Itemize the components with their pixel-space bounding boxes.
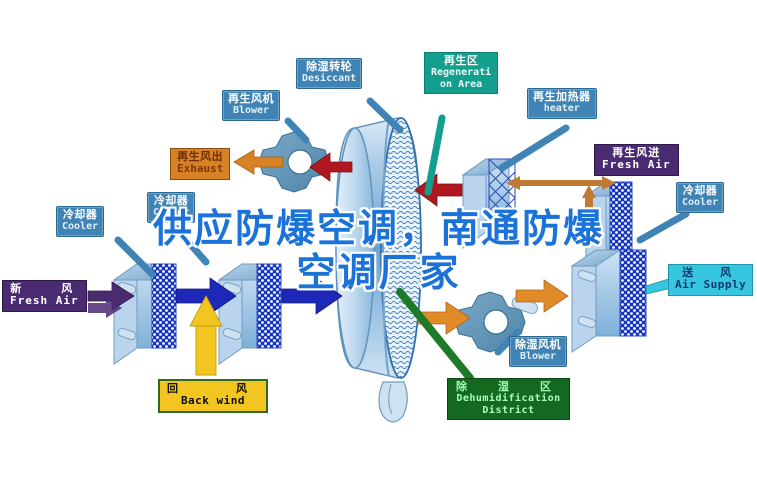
label-dehumidification-blower-en: Blower <box>515 351 561 362</box>
label-regeneration-heater-cn: 再生加热器 <box>533 91 591 103</box>
label-regeneration-heater[interactable]: 再生加热器 heater <box>527 88 597 119</box>
label-regen-fresh-air-in[interactable]: 再生风进 Fresh Air <box>594 144 679 176</box>
label-dehumidification-blower-cn: 除湿风机 <box>515 339 561 351</box>
label-cooler-middle[interactable]: 冷却器 Cooler <box>147 192 195 223</box>
label-regen-fresh-air-en: Fresh Air <box>602 159 671 171</box>
arrow-regen-hot-air-right <box>415 174 462 206</box>
label-desiccant-wheel-en: Desiccant <box>302 73 356 84</box>
label-regeneration-area-en-2: on Area <box>431 79 491 90</box>
label-dehumidification-district-en-2: District <box>456 405 561 416</box>
diagram-canvas: 除湿转轮 Desiccant 再生风机 Blower 再生区 Regenerat… <box>0 0 757 488</box>
label-cooler-right-en: Cooler <box>682 197 718 208</box>
cooler-unit-middle <box>219 264 281 364</box>
label-regeneration-heater-en: heater <box>533 103 591 114</box>
label-dehumidification-district-cn: 除 湿 区 <box>456 381 561 393</box>
label-regeneration-area-cn: 再生区 <box>431 55 491 67</box>
label-exhaust[interactable]: 再生风出 Exhaust <box>170 148 230 180</box>
label-cooler-right[interactable]: 冷却器 Cooler <box>676 182 724 213</box>
label-dehumidification-blower[interactable]: 除湿风机 Blower <box>509 336 567 367</box>
label-regeneration-blower-cn: 再生风机 <box>228 93 274 105</box>
label-cooler-left[interactable]: 冷却器 Cooler <box>56 206 104 237</box>
label-fresh-air[interactable]: 新 风 Fresh Air <box>2 280 87 312</box>
label-fresh-air-en: Fresh Air <box>10 295 79 307</box>
label-cooler-left-cn: 冷却器 <box>62 209 98 221</box>
cooler-unit-supply <box>572 250 646 352</box>
label-cooler-right-cn: 冷却器 <box>682 185 718 197</box>
label-air-supply-en: Air Supply <box>675 279 746 291</box>
label-back-wind[interactable]: 回 风 Back wind <box>158 379 268 413</box>
label-cooler-left-en: Cooler <box>62 221 98 232</box>
label-dehumidification-district-en-1: Dehumidification <box>456 393 561 404</box>
label-back-wind-en: Back wind <box>167 395 259 407</box>
label-dehumidification-district[interactable]: 除 湿 区 Dehumidification District <box>447 378 570 420</box>
label-air-supply[interactable]: 送 风 Air Supply <box>668 264 753 296</box>
cooler-unit-left <box>114 264 176 364</box>
label-desiccant-wheel-cn: 除湿转轮 <box>302 61 356 73</box>
regeneration-heater-unit <box>463 159 515 248</box>
label-regeneration-area[interactable]: 再生区 Regenerati on Area <box>424 52 498 94</box>
label-desiccant-wheel[interactable]: 除湿转轮 Desiccant <box>296 58 362 89</box>
label-regeneration-blower-en: Blower <box>228 105 274 116</box>
label-cooler-middle-en: Cooler <box>153 207 189 218</box>
label-cooler-middle-cn: 冷却器 <box>153 195 189 207</box>
label-regeneration-area-en-1: Regenerati <box>431 67 491 78</box>
label-regeneration-blower[interactable]: 再生风机 Blower <box>222 90 280 121</box>
arrow-process-air-2 <box>282 278 342 314</box>
equipment-illustration-layer <box>0 0 757 488</box>
label-exhaust-en: Exhaust <box>177 163 223 175</box>
